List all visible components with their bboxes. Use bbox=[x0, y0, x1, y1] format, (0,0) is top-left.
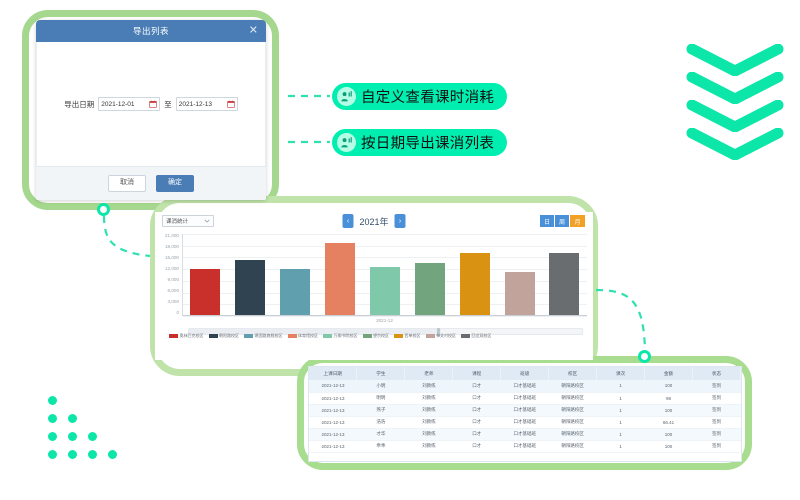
table-cell: 1 bbox=[597, 404, 645, 416]
legend-item[interactable]: 体育馆校区 bbox=[288, 333, 319, 339]
table-cell: 口才 bbox=[453, 416, 501, 428]
bar-series bbox=[183, 234, 587, 315]
chart-plot bbox=[182, 234, 587, 316]
y-axis-tick: 21,000 bbox=[165, 234, 181, 239]
legend-item[interactable]: 望京校区 bbox=[363, 333, 390, 339]
chart-legend: 奥林匹克校区朝阳路校区建国路旗舰校区体育馆校区万柳书院校区望京校区西单校区中关村… bbox=[169, 333, 585, 339]
table-row[interactable]: 2021-12-13小明刘教练口才口才基础班朝阳路校区1100签到 bbox=[309, 380, 741, 392]
table-cell: 口才基础班 bbox=[501, 416, 549, 428]
table-cell: 1 bbox=[597, 392, 645, 404]
bar[interactable] bbox=[460, 253, 490, 315]
table-column-header[interactable]: 状态 bbox=[693, 367, 741, 380]
confirm-button[interactable]: 确定 bbox=[156, 175, 194, 191]
table-cell: 签到 bbox=[693, 404, 741, 416]
table-column-header[interactable]: 班级 bbox=[501, 367, 549, 380]
legend-label: 朝阳路校区 bbox=[219, 333, 239, 339]
chevron-down-icon bbox=[204, 219, 210, 223]
bar[interactable] bbox=[415, 263, 445, 315]
table-cell: 口才基础班 bbox=[501, 440, 549, 452]
y-axis-tick: 0 bbox=[176, 311, 181, 316]
table-body: 2021-12-13小明刘教练口才口才基础班朝阳路校区1100签到2021-12… bbox=[309, 380, 741, 452]
date-to-value: 2021-12-13 bbox=[179, 101, 225, 108]
table-cell: 2021-12-13 bbox=[309, 380, 357, 392]
table-cell: 燕子 bbox=[357, 404, 405, 416]
table-cell: 1 bbox=[597, 440, 645, 452]
table-column-header[interactable]: 课程 bbox=[453, 367, 501, 380]
statistic-type-value: 课消统计 bbox=[166, 217, 204, 225]
table-cell: 小明 bbox=[357, 380, 405, 392]
chart-toolbar: 课消统计 ‹ 2021年 › 日 周 月 bbox=[155, 212, 593, 232]
table-cell: 100 bbox=[645, 404, 693, 416]
table-cell: 口才 bbox=[453, 392, 501, 404]
dialog-footer: 取消 确定 bbox=[36, 166, 266, 200]
period-week-button[interactable]: 周 bbox=[555, 215, 570, 227]
table-cell: 明明 bbox=[357, 392, 405, 404]
table-cell: 刘教练 bbox=[405, 440, 453, 452]
legend-item[interactable]: 西单校区 bbox=[394, 333, 421, 339]
table-cell: 签到 bbox=[693, 392, 741, 404]
table-cell: 浩浩 bbox=[357, 416, 405, 428]
statistic-type-select[interactable]: 课消统计 bbox=[162, 215, 214, 227]
y-axis-tick: 18,000 bbox=[165, 245, 181, 250]
table-cell: 口才 bbox=[453, 404, 501, 416]
legend-label: 体育馆校区 bbox=[298, 333, 318, 339]
table-row[interactable]: 2021-12-13乖乖刘教练口才口才基础班朝阳路校区1100签到 bbox=[309, 440, 741, 452]
legend-label: 奥林匹克校区 bbox=[180, 333, 204, 339]
table-column-header[interactable]: 校区 bbox=[549, 367, 597, 380]
course-consumption-chart-panel: 课消统计 ‹ 2021年 › 日 周 月 21,00018,00015,0001… bbox=[155, 212, 593, 360]
legend-swatch bbox=[244, 334, 253, 339]
gridline bbox=[183, 316, 587, 317]
date-to-input[interactable]: 2021-12-13 bbox=[176, 97, 238, 111]
period-month-button[interactable]: 月 bbox=[570, 215, 585, 227]
legend-swatch bbox=[394, 334, 403, 339]
table-cell: 签到 bbox=[693, 428, 741, 440]
close-icon[interactable]: ✕ bbox=[249, 26, 258, 37]
legend-swatch bbox=[363, 334, 372, 339]
user-chart-icon bbox=[337, 133, 356, 152]
calendar-icon bbox=[149, 100, 157, 108]
callout-custom-view: 自定义查看课时消耗 bbox=[332, 83, 507, 110]
table-cell: 2021-12-13 bbox=[309, 428, 357, 440]
chart-plot-area: 21,00018,00015,00012,0009,0006,0003,0000… bbox=[155, 234, 593, 329]
table-header-row: 上课日期学生老师课程班级校区课次金额状态 bbox=[309, 367, 741, 380]
table-cell: 朝阳路校区 bbox=[549, 440, 597, 452]
callout-label: 自定义查看课时消耗 bbox=[361, 86, 494, 107]
legend-item[interactable]: 朝阳路校区 bbox=[209, 333, 240, 339]
table-cell: 口才 bbox=[453, 380, 501, 392]
table-cell: 刘教练 bbox=[405, 428, 453, 440]
legend-swatch bbox=[461, 334, 470, 339]
prev-year-button[interactable]: ‹ bbox=[342, 214, 353, 228]
table-cell: 刘教练 bbox=[405, 380, 453, 392]
table-cell: 签到 bbox=[693, 416, 741, 428]
current-year-label: 2021年 bbox=[359, 215, 388, 228]
table-cell: 口才基础班 bbox=[501, 392, 549, 404]
legend-swatch bbox=[426, 334, 435, 339]
table-cell: 签到 bbox=[693, 440, 741, 452]
table-cell: 2021-12-13 bbox=[309, 440, 357, 452]
legend-label: 中关村校区 bbox=[436, 333, 456, 339]
year-navigator: ‹ 2021年 › bbox=[342, 214, 405, 228]
table-column-header[interactable]: 金额 bbox=[645, 367, 693, 380]
bar[interactable] bbox=[190, 269, 220, 315]
table-cell: 口才 bbox=[453, 428, 501, 440]
legend-item[interactable]: 建国路旗舰校区 bbox=[244, 333, 283, 339]
table-cell: 100 bbox=[645, 428, 693, 440]
legend-item[interactable]: 奥林匹克校区 bbox=[169, 333, 204, 339]
y-axis-ticks: 21,00018,00015,00012,0009,0006,0003,0000 bbox=[155, 234, 181, 316]
table-row[interactable]: 2021-12-13浩浩刘教练口才口才基础班朝阳路校区166.41签到 bbox=[309, 416, 741, 428]
period-toggle-group: 日 周 月 bbox=[540, 215, 585, 227]
date-from-input[interactable]: 2021-12-01 bbox=[98, 97, 160, 111]
table-column-header[interactable]: 老师 bbox=[405, 367, 453, 380]
table-cell: 1 bbox=[597, 428, 645, 440]
legend-swatch bbox=[323, 334, 332, 339]
table-cell: 才华 bbox=[357, 428, 405, 440]
legend-label: 望京校区 bbox=[373, 333, 389, 339]
table-cell: 2021-12-13 bbox=[309, 404, 357, 416]
table-cell: 口才基础班 bbox=[501, 428, 549, 440]
table-cell: 口才基础班 bbox=[501, 404, 549, 416]
y-axis-tick: 12,000 bbox=[165, 267, 181, 272]
calendar-icon bbox=[227, 100, 235, 108]
cancel-button[interactable]: 取消 bbox=[108, 175, 146, 191]
table-cell: 口才基础班 bbox=[501, 380, 549, 392]
table-cell: 签到 bbox=[693, 380, 741, 392]
legend-swatch bbox=[209, 334, 218, 339]
table-cell: 朝阳路校区 bbox=[549, 404, 597, 416]
table-cell: 1 bbox=[597, 416, 645, 428]
legend-item[interactable]: 中关村校区 bbox=[426, 333, 457, 339]
dialog-title: 导出列表 bbox=[133, 25, 169, 37]
table-row[interactable]: 2021-12-13明明刘教练口才口才基础班朝阳路校区198签到 bbox=[309, 392, 741, 404]
connector-node-dialog bbox=[97, 203, 110, 216]
date-from-value: 2021-12-01 bbox=[101, 101, 147, 108]
table-cell: 100 bbox=[645, 440, 693, 452]
table-cell: 98 bbox=[645, 392, 693, 404]
table-row[interactable]: 2021-12-13燕子刘教练口才口才基础班朝阳路校区1100签到 bbox=[309, 404, 741, 416]
table-cell: 100 bbox=[645, 380, 693, 392]
next-year-button[interactable]: › bbox=[395, 214, 406, 228]
legend-label: 建国路旗舰校区 bbox=[255, 333, 283, 339]
x-axis-label: 2021-12 bbox=[182, 318, 587, 323]
table-cell: 刘教练 bbox=[405, 404, 453, 416]
bar[interactable] bbox=[280, 269, 310, 315]
table-cell: 乖乖 bbox=[357, 440, 405, 452]
user-chart-icon bbox=[337, 87, 356, 106]
dialog-body: 导出日期 2021-12-01 至 2021-12-13 bbox=[36, 42, 266, 166]
table-cell: 朝阳路校区 bbox=[549, 416, 597, 428]
table-cell: 朝阳路校区 bbox=[549, 392, 597, 404]
export-list-dialog: 导出列表 ✕ 导出日期 2021-12-01 至 2021-12-13 取消 确… bbox=[36, 20, 266, 200]
table-cell: 刘教练 bbox=[405, 392, 453, 404]
y-axis-tick: 15,000 bbox=[165, 256, 181, 261]
dialog-titlebar: 导出列表 ✕ bbox=[36, 20, 266, 42]
legend-item[interactable]: 万柳书院校区 bbox=[323, 333, 358, 339]
legend-swatch bbox=[288, 334, 297, 339]
y-axis-tick: 9,000 bbox=[168, 278, 182, 283]
table-column-header[interactable]: 学生 bbox=[357, 367, 405, 380]
bar[interactable] bbox=[235, 260, 265, 315]
callout-label: 按日期导出课消列表 bbox=[361, 132, 494, 153]
course-consumption-table: 上课日期学生老师课程班级校区课次金额状态 2021-12-13小明刘教练口才口才… bbox=[308, 366, 742, 462]
legend-swatch bbox=[169, 334, 178, 339]
table-cell: 朝阳路校区 bbox=[549, 380, 597, 392]
table-cell: 1 bbox=[597, 380, 645, 392]
table-cell: 66.41 bbox=[645, 416, 693, 428]
table-cell: 朝阳路校区 bbox=[549, 428, 597, 440]
legend-label: 万柳书院校区 bbox=[334, 333, 358, 339]
export-date-row: 导出日期 2021-12-01 至 2021-12-13 bbox=[64, 97, 238, 111]
period-day-button[interactable]: 日 bbox=[540, 215, 555, 227]
bar[interactable] bbox=[370, 267, 400, 315]
table-cell: 2021-12-13 bbox=[309, 416, 357, 428]
date-range-separator: 至 bbox=[164, 99, 172, 110]
export-date-label: 导出日期 bbox=[64, 99, 94, 110]
bar[interactable] bbox=[549, 253, 579, 315]
table-column-header[interactable]: 上课日期 bbox=[309, 367, 357, 380]
y-axis-tick: 3,000 bbox=[168, 300, 182, 305]
y-axis-tick: 6,000 bbox=[168, 289, 182, 294]
table-cell: 刘教练 bbox=[405, 416, 453, 428]
table-cell: 2021-12-13 bbox=[309, 392, 357, 404]
legend-label: 西单校区 bbox=[405, 333, 421, 339]
legend-item[interactable]: 回龙观校区 bbox=[461, 333, 492, 339]
bar[interactable] bbox=[505, 272, 535, 315]
legend-label: 回龙观校区 bbox=[472, 333, 492, 339]
table-column-header[interactable]: 课次 bbox=[597, 367, 645, 380]
bar[interactable] bbox=[325, 243, 355, 315]
connector-node-table bbox=[638, 350, 651, 363]
table-cell: 口才 bbox=[453, 440, 501, 452]
table-row[interactable]: 2021-12-13才华刘教练口才口才基础班朝阳路校区1100签到 bbox=[309, 428, 741, 440]
callout-export-by-date: 按日期导出课消列表 bbox=[332, 129, 507, 156]
